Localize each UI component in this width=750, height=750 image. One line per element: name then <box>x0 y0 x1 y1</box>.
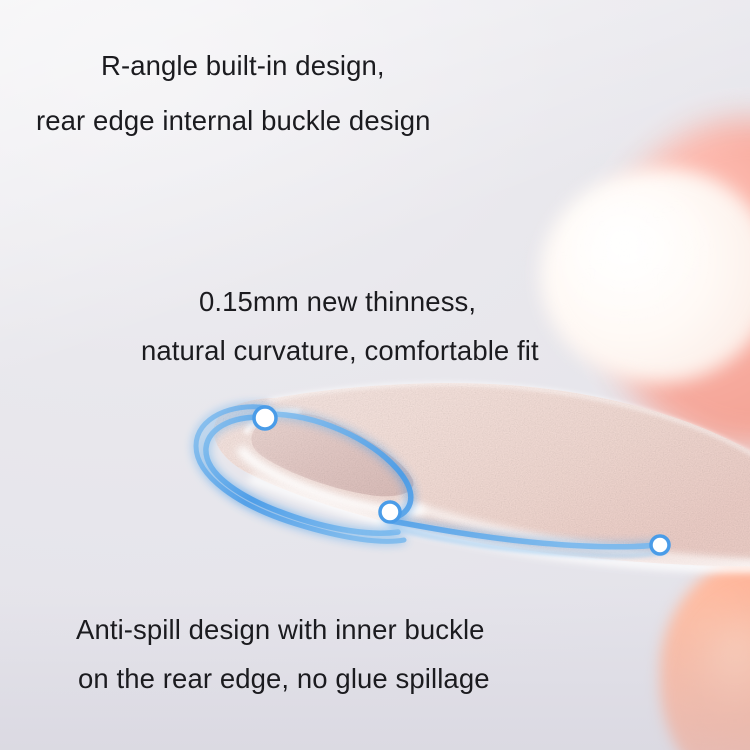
callout-bottom-line-2: on the rear edge, no glue spillage <box>78 665 490 693</box>
product-svg <box>0 330 750 630</box>
callout-top-line-2: rear edge internal buckle design <box>36 107 431 135</box>
callout-top-line-1: R-angle built-in design, <box>101 52 385 80</box>
marker-curl-top <box>254 407 276 429</box>
product-illustration <box>0 330 750 630</box>
marker-curl-inner <box>380 502 400 522</box>
fingernail-highlight-icon <box>560 186 720 336</box>
marker-rear-edge <box>651 536 669 554</box>
callout-middle-line-2: natural curvature, comfortable fit <box>141 337 539 365</box>
callout-middle-line-1: 0.15mm new thinness, <box>199 288 476 316</box>
callout-bottom-line-1: Anti-spill design with inner buckle <box>76 616 485 644</box>
product-feature-image: R-angle built-in design, rear edge inter… <box>0 0 750 750</box>
